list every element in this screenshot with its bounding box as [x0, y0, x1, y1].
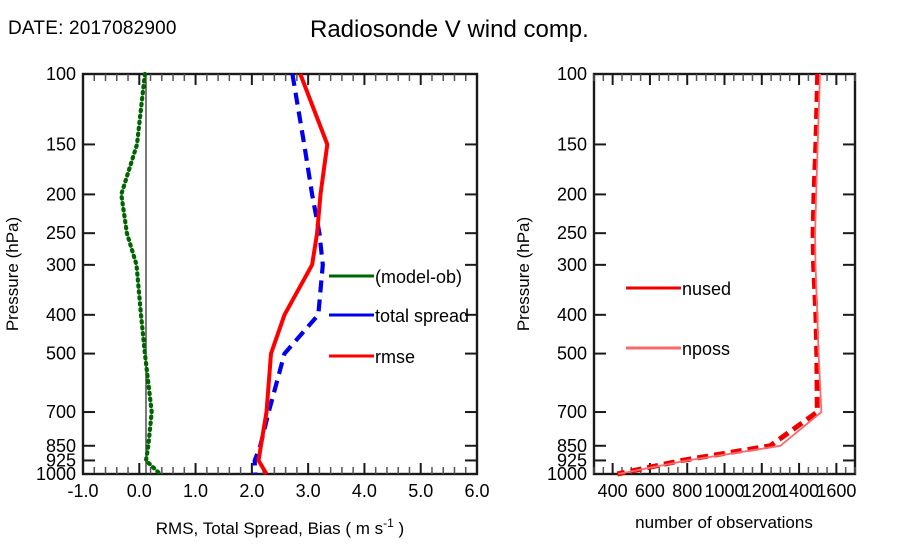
right-y-tick-label: 150	[557, 134, 587, 154]
right-y-tick-label: 500	[557, 344, 587, 364]
legend-label-nused[interactable]: nused	[682, 279, 731, 299]
right-x-tick-label: 800	[672, 481, 702, 501]
right-panel: 4006008001000120014001600 10015020025030…	[514, 64, 856, 532]
right-y-tick-label: 100	[557, 64, 587, 84]
right-x-tick-label: 1000	[704, 481, 744, 501]
series-rmse	[259, 74, 328, 474]
legend-label-rmse[interactable]: rmse	[375, 347, 415, 367]
left-y-tick-label: 1000	[36, 464, 76, 484]
legend-label-nposs[interactable]: nposs	[682, 339, 730, 359]
series-nposs	[618, 74, 821, 474]
right-x-tick-label: 1600	[816, 481, 856, 501]
legend-label-total-spread[interactable]: total spread	[375, 306, 469, 326]
right-y-tick-labels: 1001502002503004005007008509251000	[547, 64, 587, 484]
left-y-tick-label: 700	[46, 402, 76, 422]
left-x-tick-label: 5.0	[408, 481, 433, 501]
right-x-tick-label: 1400	[779, 481, 819, 501]
right-x-tick-label: 1200	[742, 481, 782, 501]
left-y-tick-label: 500	[46, 344, 76, 364]
left-x-tick-label: 4.0	[352, 481, 377, 501]
series--model-ob-	[121, 74, 160, 474]
right-x-tick-label: 600	[635, 481, 665, 501]
right-y-tick-label: 700	[557, 402, 587, 422]
right-y-tick-label: 400	[557, 305, 587, 325]
left-legend: (model-ob)total spreadrmse	[329, 267, 469, 367]
right-y-tick-label: 200	[557, 184, 587, 204]
left-y-tick-label: 300	[46, 255, 76, 275]
right-y-axis-label: Pressure (hPa)	[514, 217, 533, 331]
left-x-tick-label: 1.0	[183, 481, 208, 501]
legend-label--model-ob-[interactable]: (model-ob)	[375, 267, 462, 287]
left-x-tick-label: 0.0	[127, 481, 152, 501]
right-x-axis-label: number of observations	[635, 513, 813, 532]
figure-canvas: -1.00.01.02.03.04.05.06.0 10015020025030…	[0, 0, 900, 560]
right-x-tick-label: 400	[598, 481, 628, 501]
left-x-axis-label: RMS, Total Spread, Bias ( m s-1 )	[156, 516, 404, 538]
right-x-tick-labels: 4006008001000120014001600	[598, 481, 857, 501]
left-x-tick-labels: -1.00.01.02.03.04.05.06.0	[67, 481, 489, 501]
left-y-tick-labels: 1001502002503004005007008509251000	[36, 64, 76, 484]
right-y-tick-label: 1000	[547, 464, 587, 484]
left-y-axis-label: Pressure (hPa)	[3, 217, 22, 331]
left-x-tick-label: 3.0	[296, 481, 321, 501]
left-data-curves	[121, 74, 327, 474]
right-y-tick-label: 300	[557, 255, 587, 275]
left-x-tick-label: 6.0	[464, 481, 489, 501]
left-panel: -1.00.01.02.03.04.05.06.0 10015020025030…	[3, 64, 490, 538]
left-x-tick-label: -1.0	[67, 481, 98, 501]
series-nused	[617, 74, 817, 474]
right-y-tick-label: 250	[557, 223, 587, 243]
left-y-tick-label: 150	[46, 134, 76, 154]
left-y-tick-label: 100	[46, 64, 76, 84]
right-data-curves	[617, 74, 821, 474]
right-legend: nusednposs	[626, 279, 731, 359]
left-y-tick-label: 200	[46, 184, 76, 204]
left-x-tick-label: 2.0	[239, 481, 264, 501]
left-y-tick-label: 250	[46, 223, 76, 243]
left-y-tick-label: 400	[46, 305, 76, 325]
